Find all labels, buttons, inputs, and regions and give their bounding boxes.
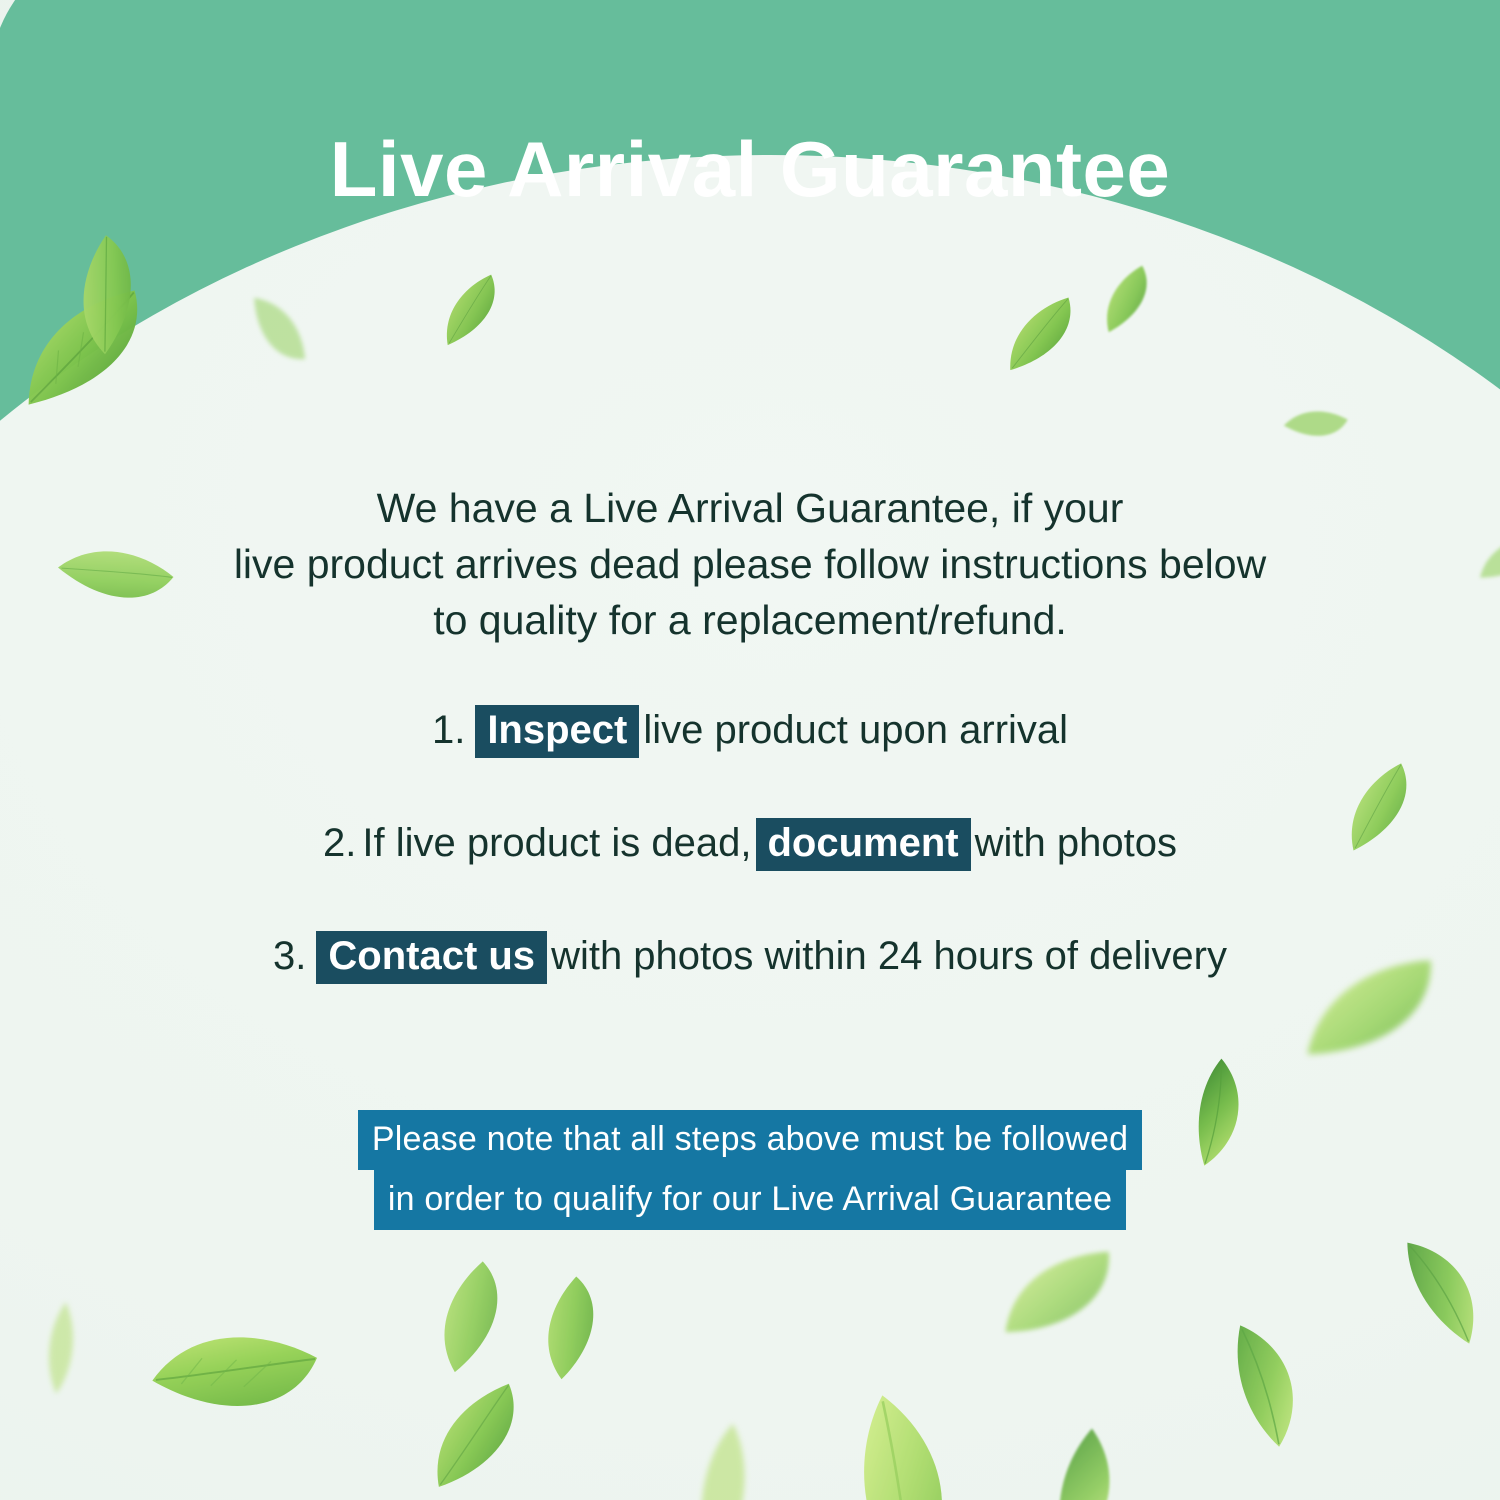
- step-item-2: 2.If live product is dead,documentwith p…: [0, 818, 1500, 871]
- intro-line-2: live product arrives dead please follow …: [150, 536, 1350, 592]
- note-line-1: Please note that all steps above must be…: [358, 1110, 1142, 1170]
- step-item-3: 3.Contact uswith photos within 24 hours …: [0, 931, 1500, 984]
- step-highlight-contact-us: Contact us: [316, 931, 547, 984]
- content-layer: Live Arrival Guarantee We have a Live Ar…: [0, 0, 1500, 1500]
- note-row-1: Please note that all steps above must be…: [0, 1110, 1500, 1170]
- step-text-after: with photos within 24 hours of delivery: [551, 934, 1227, 978]
- step-highlight-document: document: [756, 818, 971, 871]
- intro-line-1: We have a Live Arrival Guarantee, if you…: [150, 480, 1350, 536]
- steps-list: 1.Inspectlive product upon arrival 2.If …: [0, 705, 1500, 984]
- step-number: 2.: [323, 821, 356, 865]
- note-line-2: in order to qualify for our Live Arrival…: [374, 1170, 1126, 1230]
- note-row-2: in order to qualify for our Live Arrival…: [0, 1170, 1500, 1230]
- step-number: 3.: [273, 934, 306, 978]
- page-title: Live Arrival Guarantee: [0, 130, 1500, 208]
- step-text-before: If live product is dead,: [362, 821, 751, 865]
- intro-paragraph: We have a Live Arrival Guarantee, if you…: [150, 480, 1350, 648]
- live-arrival-guarantee-graphic: Live Arrival Guarantee We have a Live Ar…: [0, 0, 1500, 1500]
- note-banner: Please note that all steps above must be…: [0, 1110, 1500, 1230]
- step-text-after: live product upon arrival: [643, 708, 1068, 752]
- step-number: 1.: [432, 708, 465, 752]
- step-item-1: 1.Inspectlive product upon arrival: [0, 705, 1500, 758]
- step-text-after: with photos: [975, 821, 1177, 865]
- step-highlight-inspect: Inspect: [475, 705, 639, 758]
- intro-line-3: to quality for a replacement/refund.: [150, 592, 1350, 648]
